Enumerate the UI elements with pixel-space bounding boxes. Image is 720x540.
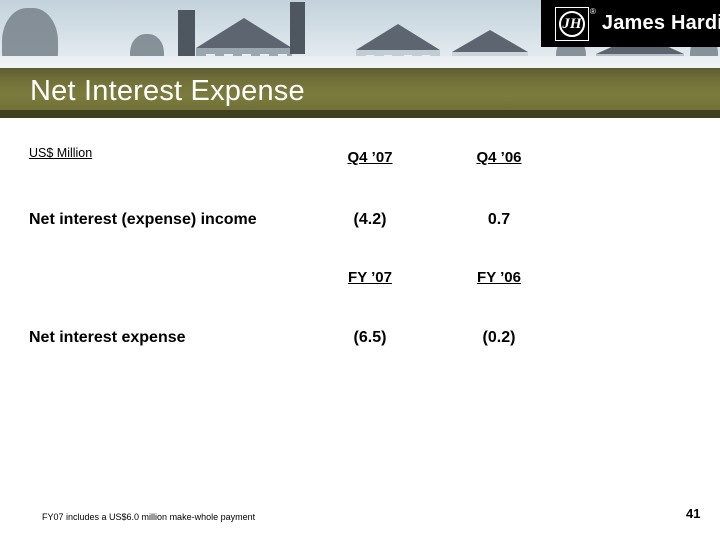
units-label: US$ Million <box>29 146 92 160</box>
table-cell-fy-07-net-interest-expense: (6.5) <box>318 329 422 347</box>
table-cell-q4-06-net-interest: 0.7 <box>447 211 551 229</box>
table-cell-fy-06-net-interest-expense: (0.2) <box>447 329 551 347</box>
registered-trademark-icon: ® <box>590 8 596 16</box>
slide-body: US$ Million Q4 ’07 Q4 ’06 Net interest (… <box>0 118 720 540</box>
banner-ground-shadow <box>0 110 720 118</box>
page-number: 41 <box>686 506 700 521</box>
jh-monogram-letters: JH <box>556 8 588 40</box>
footnote: FY07 includes a US$6.0 million make-whol… <box>42 512 255 522</box>
banner-chimney <box>290 2 305 54</box>
column-header-q4-06: Q4 ’06 <box>447 149 551 166</box>
banner-roof <box>196 18 292 48</box>
table-cell-q4-07-net-interest: (4.2) <box>318 211 422 229</box>
banner-roof <box>356 24 440 50</box>
column-header-fy-06: FY ’06 <box>447 269 551 286</box>
banner-roof <box>452 30 528 52</box>
brand-name: James Hardie <box>602 12 720 35</box>
table-row-label-net-interest-expense-income: Net interest (expense) income <box>29 211 257 229</box>
table-row-label-net-interest-expense: Net interest expense <box>29 329 186 347</box>
jh-monogram-icon: JH <box>555 7 589 41</box>
column-header-q4-07: Q4 ’07 <box>318 149 422 166</box>
column-header-fy-07: FY ’07 <box>318 269 422 286</box>
page-title: Net Interest Expense <box>30 76 305 106</box>
james-hardie-logo: JH ® James Hardie <box>541 0 720 47</box>
